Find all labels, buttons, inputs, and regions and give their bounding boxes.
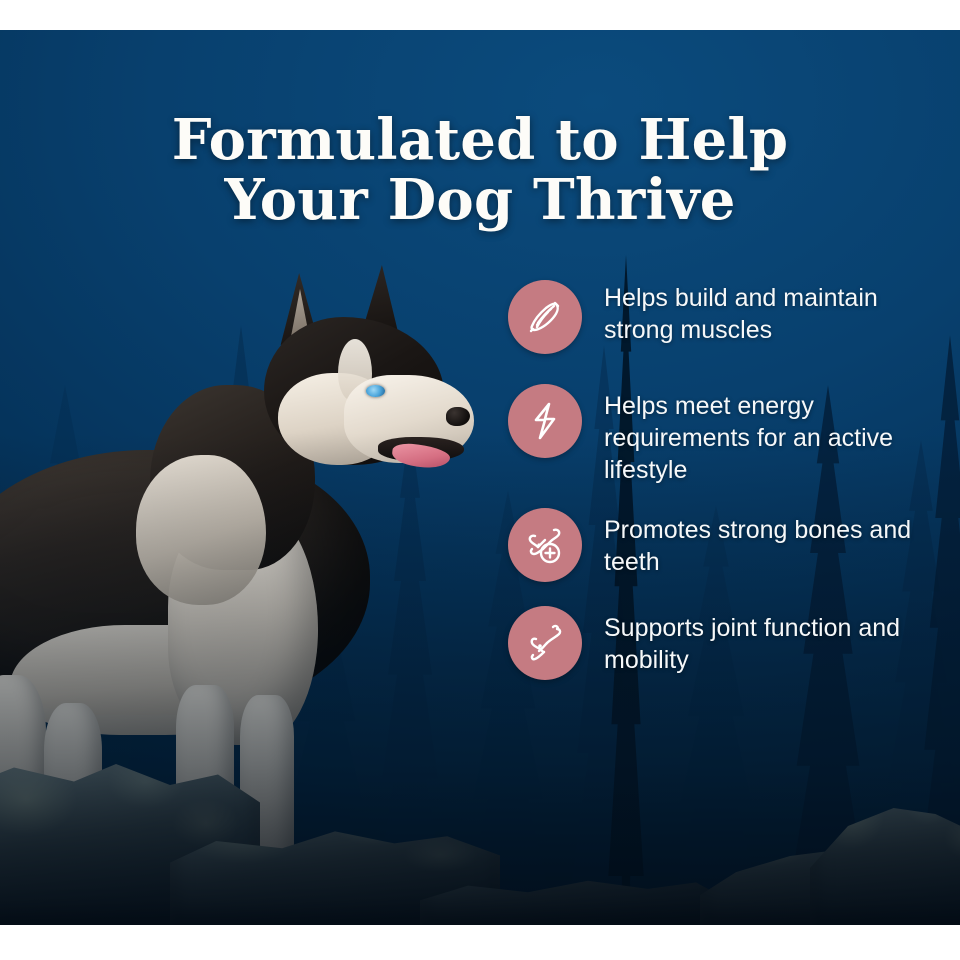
benefit-item-energy: Helps meet energy requirements for an ac…: [508, 384, 948, 486]
benefit-text: Supports joint function and mobility: [604, 606, 934, 676]
benefit-item-joints: Supports joint function and mobility: [508, 606, 948, 680]
benefit-item-muscles: Helps build and maintain strong muscles: [508, 280, 948, 354]
headline-line-1: Formulated to Help: [0, 110, 960, 170]
page-title: Formulated to Help Your Dog Thrive: [0, 110, 960, 231]
dog-eye: [366, 385, 385, 397]
joint-icon: [508, 606, 582, 680]
headline-line-2: Your Dog Thrive: [0, 170, 960, 230]
frame-top-border: [0, 0, 960, 30]
benefit-item-bones: Promotes strong bones and teeth: [508, 508, 948, 582]
benefits-list: Helps build and maintain strong muscles …: [508, 280, 948, 680]
dog-ruff: [136, 455, 266, 605]
bone-plus-icon: [508, 508, 582, 582]
benefit-text: Helps build and maintain strong muscles: [604, 280, 934, 346]
lightning-bolt-icon: [508, 384, 582, 458]
frame-bottom-border: [0, 925, 960, 960]
benefit-text: Helps meet energy requirements for an ac…: [604, 384, 934, 486]
rock-ledge: [0, 745, 960, 925]
muscle-icon: [508, 280, 582, 354]
rock: [810, 775, 960, 925]
benefit-text: Promotes strong bones and teeth: [604, 508, 934, 578]
product-benefits-poster: Formulated to Help Your Dog Thrive Helps…: [0, 0, 960, 960]
